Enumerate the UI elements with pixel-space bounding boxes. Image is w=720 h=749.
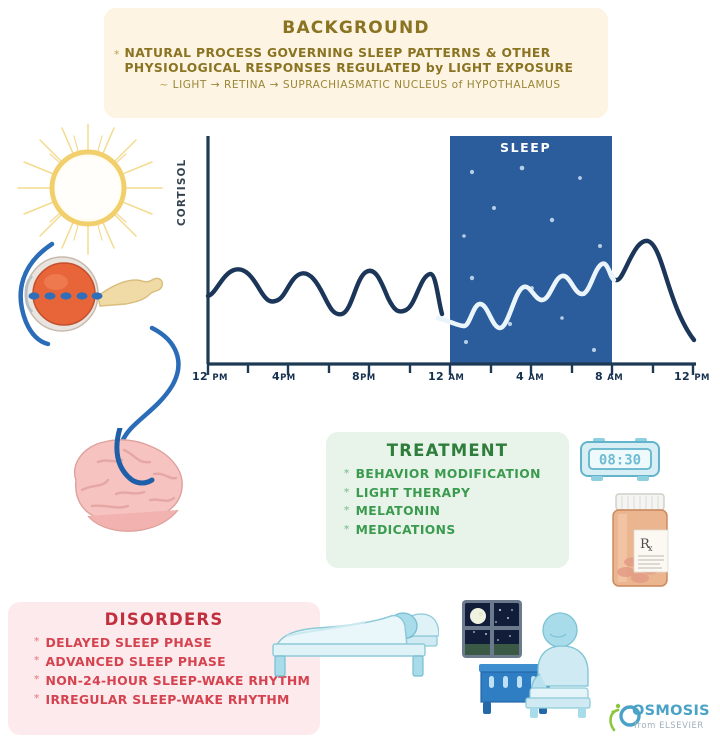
treatment-title: TREATMENT (326, 441, 569, 460)
background-card: BACKGROUND * NATURAL PROCESS GOVERNING S… (104, 8, 608, 118)
bullet-star-icon: * (344, 523, 350, 535)
treatment-item-label: LIGHT THERAPY (356, 486, 471, 500)
clock-time-text: 08:30 (599, 453, 641, 469)
disorder-item-label: DELAYED SLEEP PHASE (46, 635, 212, 650)
treatment-item-label: MELATONIN (356, 504, 441, 518)
bullet-star-icon: * (344, 504, 350, 516)
brain-anatomy-icon (58, 428, 194, 540)
night-window-with-moon-icon (460, 598, 524, 660)
treatment-card: TREATMENT * BEHAVIOR MODIFICATION * LIGH… (326, 432, 569, 568)
eye-anatomy-icon (2, 236, 182, 346)
bullet-star-icon: * (344, 467, 350, 479)
logo-tagline-text: from ELSEVIER (634, 720, 704, 730)
background-subline-row: ~ LIGHT → RETINA → SUPRACHIASMATIC NUCLE… (104, 79, 608, 91)
osmosis-logo: OSMOSIS from ELSEVIER (608, 700, 716, 740)
background-title: BACKGROUND (104, 18, 608, 38)
background-line-1: NATURAL PROCESS GOVERNING SLEEP PATTERNS… (125, 46, 574, 61)
svg-text:x: x (648, 544, 653, 553)
list-item: * MEDICATIONS (344, 523, 569, 537)
sleep-shaded-region (450, 136, 612, 363)
background-bullet-row: * NATURAL PROCESS GOVERNING SLEEP PATTER… (104, 46, 608, 75)
disorder-item-label: IRREGULAR SLEEP-WAKE RHYTHM (46, 692, 290, 707)
list-item: * MELATONIN (344, 504, 569, 518)
x-tick-label-2: 8PM (352, 370, 376, 383)
disorder-item-label: ADVANCED SLEEP PHASE (46, 654, 226, 669)
x-tick-label-3: 12 AM (428, 370, 464, 383)
x-tick-label-5: 8 AM (595, 370, 623, 383)
y-axis-label: CORTISOL (176, 159, 188, 226)
list-item: * BEHAVIOR MODIFICATION (344, 467, 569, 481)
cortisol-circadian-chart (180, 128, 700, 393)
x-tick-label-0: 12 PM (192, 370, 228, 383)
x-tick-label-6: 12 PM (674, 370, 710, 383)
treatment-item-label: BEHAVIOR MODIFICATION (356, 467, 541, 481)
pill-bottle-icon: R x (604, 492, 676, 588)
person-sitting-on-bed-icon (516, 612, 594, 720)
tilde-marker-icon: ~ (159, 79, 168, 91)
background-line-2: PHYSIOLOGICAL RESPONSES REGULATED by LIG… (125, 61, 574, 76)
treatment-item-label: MEDICATIONS (356, 523, 456, 537)
bullet-star-icon: * (344, 486, 350, 498)
treatment-list: * BEHAVIOR MODIFICATION * LIGHT THERAPY … (326, 467, 569, 537)
list-item: * IRREGULAR SLEEP-WAKE RHYTHM (34, 692, 320, 707)
bullet-star-icon: * (114, 46, 120, 75)
person-sleeping-in-bed-icon (257, 592, 439, 688)
background-subline: LIGHT → RETINA → SUPRACHIASMATIC NUCLEUS… (173, 79, 561, 91)
bullet-star-icon: * (34, 635, 40, 647)
logo-brand-text: OSMOSIS (632, 703, 710, 719)
digital-alarm-clock-icon: 08:30 (577, 436, 663, 484)
sleep-region-label: SLEEP (500, 140, 551, 155)
list-item: * LIGHT THERAPY (344, 486, 569, 500)
bullet-star-icon: * (34, 673, 40, 685)
bullet-star-icon: * (34, 692, 40, 704)
x-tick-label-1: 4PM (272, 370, 296, 383)
infographic-canvas: BACKGROUND * NATURAL PROCESS GOVERNING S… (0, 0, 720, 749)
bullet-star-icon: * (34, 654, 40, 666)
x-tick-label-4: 4 AM (516, 370, 544, 383)
